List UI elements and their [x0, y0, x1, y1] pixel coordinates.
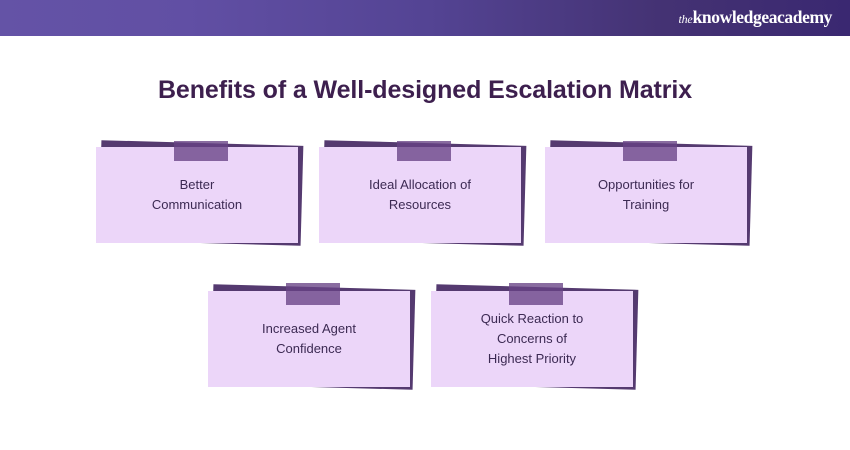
- benefit-card-quick-reaction-to-concerns-of-highest-priority: Quick Reaction to Concerns of Highest Pr…: [431, 285, 633, 385]
- benefits-card-board: Better Communication Ideal Allocation of…: [0, 0, 850, 450]
- tape-strip-icon: [397, 141, 451, 161]
- card-label: Opportunities for Training: [588, 175, 704, 215]
- card-face: Better Communication: [96, 147, 298, 243]
- benefit-card-increased-agent-confidence: Increased Agent Confidence: [208, 285, 410, 385]
- card-label: Better Communication: [142, 175, 252, 215]
- tape-strip-icon: [174, 141, 228, 161]
- card-face: Opportunities for Training: [545, 147, 747, 243]
- card-face: Quick Reaction to Concerns of Highest Pr…: [431, 291, 633, 387]
- card-label: Increased Agent Confidence: [252, 319, 366, 359]
- benefit-card-opportunities-for-training: Opportunities for Training: [545, 141, 747, 241]
- card-face: Ideal Allocation of Resources: [319, 147, 521, 243]
- card-face: Increased Agent Confidence: [208, 291, 410, 387]
- benefit-card-better-communication: Better Communication: [96, 141, 298, 241]
- tape-strip-icon: [509, 283, 563, 305]
- tape-strip-icon: [623, 141, 677, 161]
- card-label: Ideal Allocation of Resources: [359, 175, 481, 215]
- tape-strip-icon: [286, 283, 340, 305]
- card-label: Quick Reaction to Concerns of Highest Pr…: [471, 309, 594, 369]
- benefit-card-ideal-allocation-of-resources: Ideal Allocation of Resources: [319, 141, 521, 241]
